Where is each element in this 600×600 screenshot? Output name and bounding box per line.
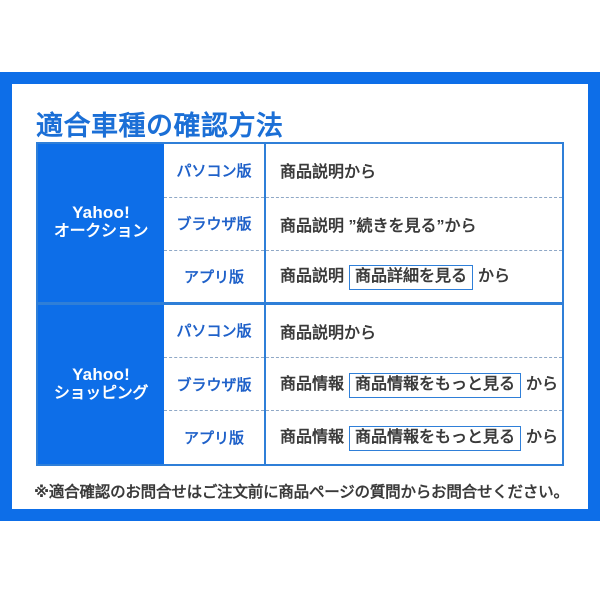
panel-content-area: 適合車種の確認方法 Yahoo!オークションパソコン版商品説明からブラウザ版商品…: [12, 84, 588, 509]
footnote-text: ※適合確認のお問合せはご注文前に商品ページの質問からお問合せください。: [34, 480, 578, 502]
platform-label: パソコン版: [164, 144, 265, 197]
platform-label: パソコン版: [164, 305, 265, 358]
platform-label: ブラウザ版: [164, 197, 265, 250]
compatibility-table: Yahoo!オークションパソコン版商品説明からブラウザ版商品説明 ”続きを見る”…: [38, 144, 562, 464]
instruction-prefix: 商品説明 ”続きを見る”から: [280, 218, 476, 235]
platform-label: アプリ版: [164, 411, 265, 464]
instruction-cell: 商品情報商品情報をもっと見るから: [265, 358, 562, 411]
instruction-cell: 商品説明商品詳細を見るから: [265, 250, 562, 303]
instruction-prefix: 商品説明から: [280, 325, 376, 342]
brand-cell: Yahoo!オークション: [38, 144, 164, 303]
blue-frame-panel: 適合車種の確認方法 Yahoo!オークションパソコン版商品説明からブラウザ版商品…: [0, 72, 600, 521]
instruction-cell: 商品説明 ”続きを見る”から: [265, 197, 562, 250]
instruction-prefix: 商品説明: [280, 268, 344, 285]
brand-name: Yahoo!: [40, 203, 162, 223]
table-row: Yahoo!オークションパソコン版商品説明から: [38, 144, 562, 197]
ui-button-reference: 商品詳細を見る: [349, 265, 473, 290]
ui-button-reference: 商品情報をもっと見る: [349, 373, 521, 398]
platform-label: アプリ版: [164, 250, 265, 303]
instruction-prefix: 商品説明から: [280, 164, 376, 181]
instruction-prefix: 商品情報: [280, 429, 344, 446]
compatibility-table-wrapper: Yahoo!オークションパソコン版商品説明からブラウザ版商品説明 ”続きを見る”…: [36, 142, 564, 466]
page-title: 適合車種の確認方法: [36, 104, 284, 143]
instruction-cell: 商品情報商品情報をもっと見るから: [265, 411, 562, 464]
brand-name: Yahoo!: [40, 365, 162, 385]
ui-button-reference: 商品情報をもっと見る: [349, 426, 521, 451]
instruction-suffix: から: [526, 429, 558, 446]
instruction-suffix: から: [478, 268, 510, 285]
instruction-suffix: から: [526, 376, 558, 393]
instruction-cell: 商品説明から: [265, 305, 562, 358]
instruction-cell: 商品説明から: [265, 144, 562, 197]
brand-service-name: オークション: [40, 223, 162, 242]
platform-label: ブラウザ版: [164, 358, 265, 411]
brand-service-name: ショッピング: [40, 385, 162, 404]
instruction-prefix: 商品情報: [280, 376, 344, 393]
brand-cell: Yahoo!ショッピング: [38, 305, 164, 464]
table-row: Yahoo!ショッピングパソコン版商品説明から: [38, 305, 562, 358]
